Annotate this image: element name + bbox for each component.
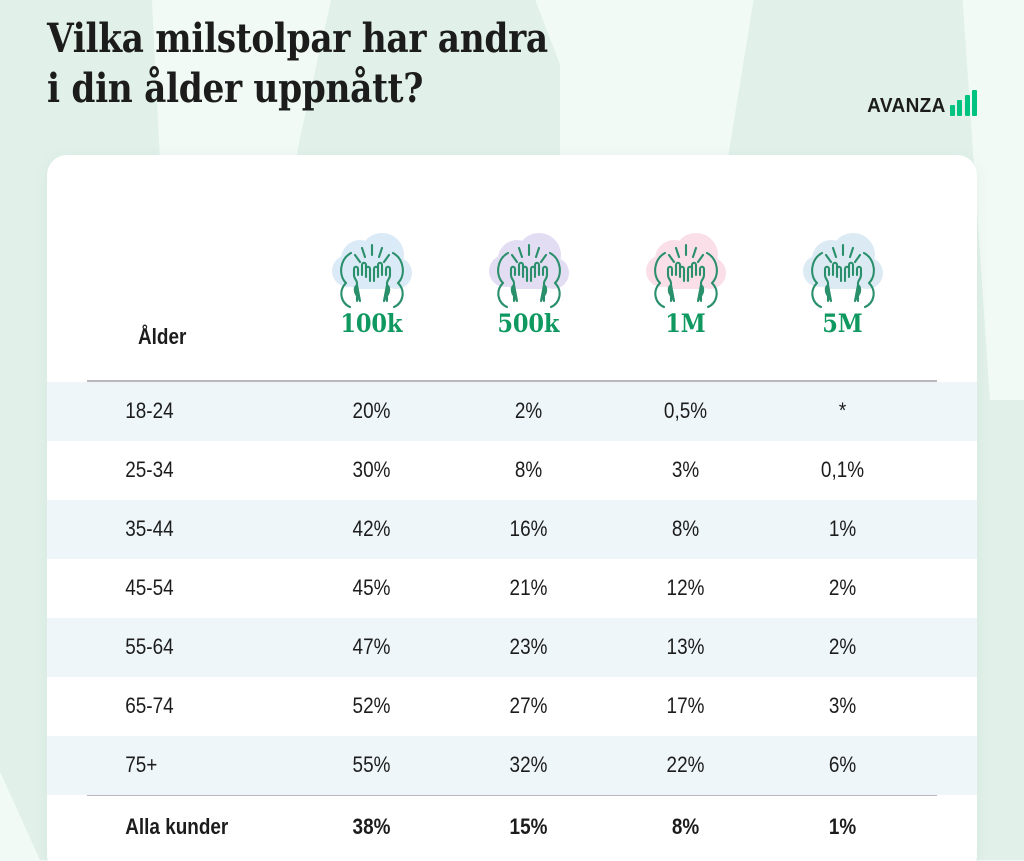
logo-bar-2 [957,100,962,116]
column-header-5m: 5M [764,233,921,338]
cell-age: 35-44 [47,516,259,542]
celebration-hands-icon [324,233,420,311]
table-body: 18-24 20% 2% 0,5% * 25-34 30% 8% 3% 0,1%… [47,382,977,795]
cell-summary-1m: 8% [618,814,753,840]
table-row[interactable]: 65-74 52% 27% 17% 3% [47,677,977,736]
table-row[interactable]: 18-24 20% 2% 0,5% * [47,382,977,441]
column-header-1m: 1M [607,233,764,338]
cell-5m: 0,1% [775,457,910,483]
logo-bar-4 [972,90,977,116]
cell-100k: 30% [304,457,439,483]
cell-5m: 1% [775,516,910,542]
cell-1m: 3% [618,457,753,483]
column-header-500k: 500k [450,233,607,338]
cell-100k: 52% [304,693,439,719]
cell-age: 75+ [47,752,259,778]
cell-5m: * [775,398,910,424]
cell-age: 45-54 [47,575,259,601]
cell-1m: 22% [618,752,753,778]
table-header: 100k [47,155,977,380]
milestones-table-card: 100k [47,155,977,861]
cell-100k: 47% [304,634,439,660]
table-header-spacer [47,233,293,234]
cell-100k: 20% [304,398,439,424]
cell-age: 65-74 [47,693,259,719]
cell-summary-label: Alla kunder [47,814,259,840]
cell-1m: 8% [618,516,753,542]
column-header-100k: 100k [293,233,450,338]
table-summary: Alla kunder 38% 15% 8% 1% [47,796,977,858]
table-header-columns: 100k [47,233,977,338]
logo-bar-3 [965,95,970,116]
cell-1m: 17% [618,693,753,719]
cell-1m: 12% [618,575,753,601]
bar-chart-icon [950,90,978,116]
table-row[interactable]: 75+ 55% 32% 22% 6% [47,736,977,795]
cell-500k: 21% [461,575,596,601]
cell-100k: 55% [304,752,439,778]
column-header-label: 100k [341,309,403,338]
cell-5m: 2% [775,634,910,660]
celebration-hands-icon [638,233,734,311]
column-header-label: 5M [822,309,862,338]
cell-500k: 8% [461,457,596,483]
cell-500k: 2% [461,398,596,424]
avanza-logo-text: AVANZA [867,96,946,116]
cell-5m: 6% [775,752,910,778]
cell-1m: 13% [618,634,753,660]
cell-1m: 0,5% [618,398,753,424]
table-row[interactable]: 35-44 42% 16% 8% 1% [47,500,977,559]
column-header-label: 1M [665,309,705,338]
cell-500k: 27% [461,693,596,719]
cell-100k: 45% [304,575,439,601]
table-summary-row[interactable]: Alla kunder 38% 15% 8% 1% [47,796,977,858]
page-header: Vilka milstolpar har andra i din ålder u… [0,0,1024,155]
table-row[interactable]: 25-34 30% 8% 3% 0,1% [47,441,977,500]
cell-500k: 16% [461,516,596,542]
cell-summary-5m: 1% [775,814,910,840]
logo-bar-1 [950,105,955,116]
celebration-hands-icon [795,233,891,311]
cell-5m: 3% [775,693,910,719]
cell-summary-100k: 38% [304,814,439,840]
page-title: Vilka milstolpar har andra i din ålder u… [47,14,649,113]
cell-5m: 2% [775,575,910,601]
avanza-logo: AVANZA [863,86,977,116]
celebration-hands-icon [481,233,577,311]
cell-500k: 23% [461,634,596,660]
table-row[interactable]: 55-64 47% 23% 13% 2% [47,618,977,677]
cell-age: 18-24 [47,398,259,424]
column-header-age: Ålder [138,324,186,350]
table-row[interactable]: 45-54 45% 21% 12% 2% [47,559,977,618]
cell-age: 25-34 [47,457,259,483]
cell-age: 55-64 [47,634,259,660]
cell-100k: 42% [304,516,439,542]
cell-500k: 32% [461,752,596,778]
column-header-label: 500k [498,309,560,338]
cell-summary-500k: 15% [461,814,596,840]
